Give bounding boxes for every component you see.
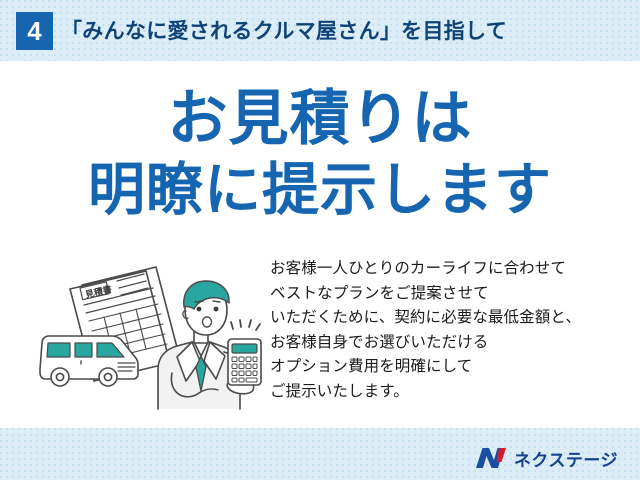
van-car-icon [40,336,138,386]
page-title: 「みんなに愛されるクルマ屋さん」を目指して [61,16,507,48]
header-step-badge: 4 [16,12,53,50]
sparkle-icon [231,320,260,330]
body-copy-line: いただくために、契約に必要な最低金額と、 [270,306,635,331]
headline-line-1: お見積りは [0,83,640,155]
calculator-icon [228,339,261,385]
illustration-salesman-quotation: 見積書 [34,257,270,417]
body-copy-line: ご提示いたします。 [270,380,635,405]
body-copy-line: お客様一人ひとりのカーライフに合わせて [270,257,635,282]
promo-page: 4 「みんなに愛されるクルマ屋さん」を目指して お見積りは 明瞭に提示します お… [0,0,640,480]
main-content: お見積りは 明瞭に提示します お客様一人ひとりのカーライフに合わせて ベストなプ… [0,61,640,428]
nextage-n-logo-icon [475,447,507,469]
brand-logo-text: ネクステージ [514,446,618,471]
body-copy-line: オプション費用を明確にして [270,355,635,380]
body-copy: お客様一人ひとりのカーライフに合わせて ベストなプランをご提案させて いただくた… [270,257,635,404]
headline-line-2: 明瞭に提示します [0,155,640,225]
body-copy-line: お客様自身でお選びいただける [270,331,635,356]
headline: お見積りは 明瞭に提示します [0,83,640,225]
brand-logo: ネクステージ [475,446,618,470]
body-copy-line: ベストなプランをご提案させて [270,282,635,307]
